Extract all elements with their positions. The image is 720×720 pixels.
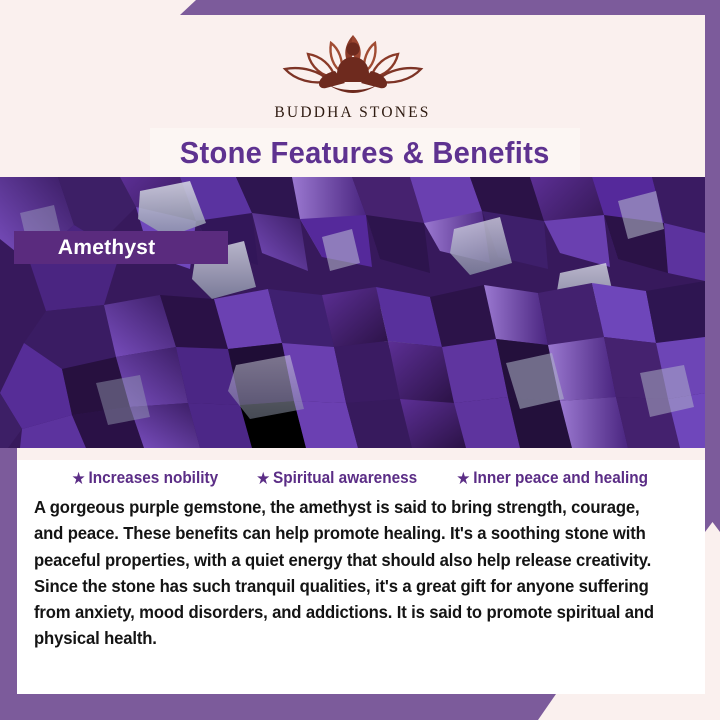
page-title: Stone Features & Benefits bbox=[180, 135, 550, 171]
hero-image bbox=[0, 177, 705, 448]
benefits-list: ★ Increases nobility ★ Spiritual awarene… bbox=[17, 460, 705, 488]
amethyst-crystal-cluster-art bbox=[0, 177, 705, 448]
benefit-item: ★ Inner peace and healing bbox=[457, 469, 649, 488]
stone-name-label: Amethyst bbox=[14, 236, 156, 260]
benefit-item: ★ Increases nobility bbox=[72, 469, 219, 488]
stone-description: A gorgeous purple gemstone, the amethyst… bbox=[34, 494, 666, 652]
brand-logo: BUDDHA STONES bbox=[0, 27, 705, 122]
content-card: ★ Increases nobility ★ Spiritual awarene… bbox=[17, 460, 705, 694]
frame-band-bottom bbox=[0, 694, 556, 720]
lotus-meditation-icon bbox=[269, 27, 437, 99]
brand-name: BUDDHA STONES bbox=[274, 104, 430, 122]
star-icon: ★ bbox=[72, 470, 86, 487]
infographic-page: BUDDHA STONES Stone Features & Benefits bbox=[0, 0, 720, 720]
benefit-label: Increases nobility bbox=[89, 469, 219, 488]
star-icon: ★ bbox=[457, 470, 471, 487]
title-card: Stone Features & Benefits bbox=[150, 128, 580, 178]
benefit-label: Spiritual awareness bbox=[273, 469, 417, 488]
benefit-label: Inner peace and healing bbox=[474, 469, 649, 488]
stone-name-banner: Amethyst bbox=[14, 231, 228, 264]
star-icon: ★ bbox=[256, 470, 270, 487]
frame-band-top bbox=[180, 0, 720, 15]
header-section: BUDDHA STONES Stone Features & Benefits bbox=[0, 15, 705, 177]
benefit-item: ★ Spiritual awareness bbox=[256, 469, 417, 488]
frame-band-left bbox=[0, 448, 17, 720]
content-top-strip bbox=[17, 448, 705, 460]
frame-band-right bbox=[705, 0, 720, 532]
